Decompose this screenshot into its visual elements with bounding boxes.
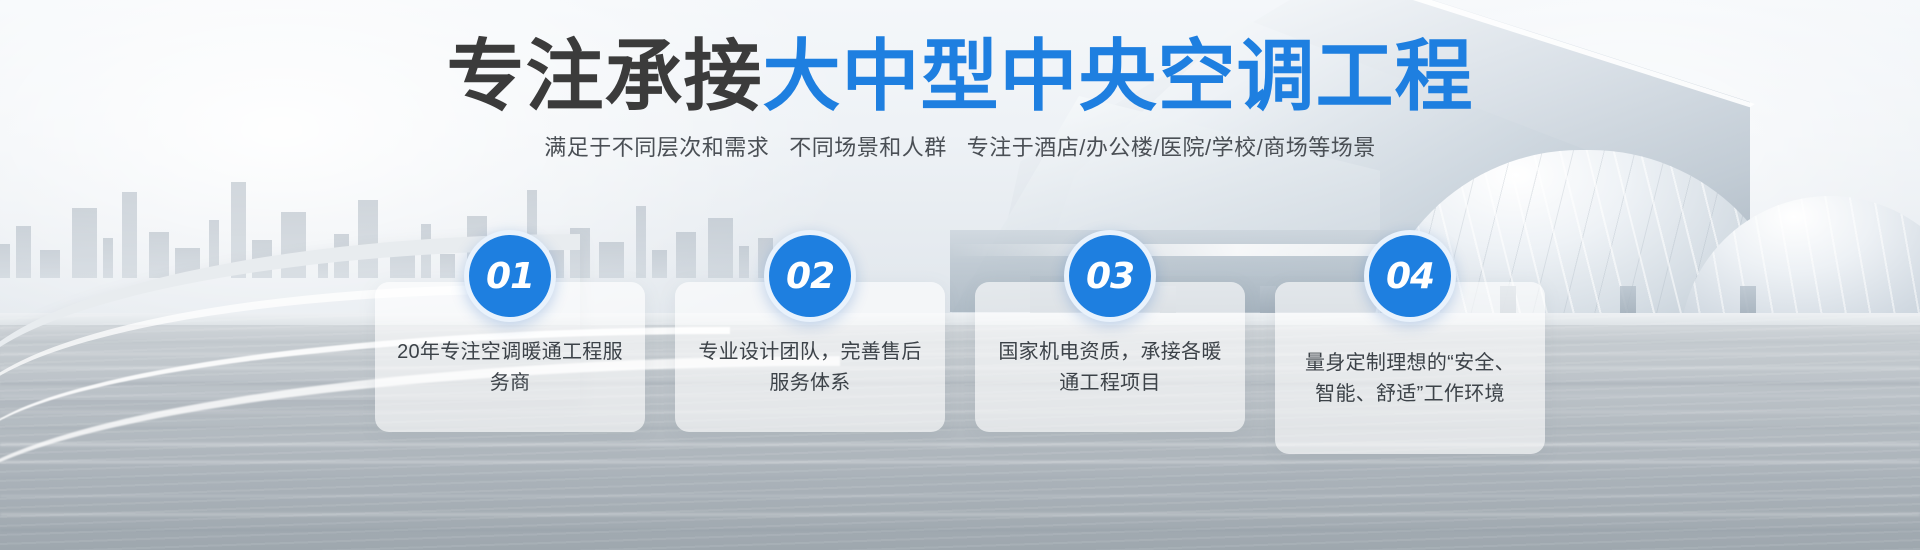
card-text-3: 国家机电资质，承接各暖通工程项目 — [995, 337, 1225, 399]
subtitle-part-3: 专注于酒店/办公楼/医院/学校/商场等场景 — [967, 135, 1376, 160]
feature-card-3[interactable]: 03 国家机电资质，承接各暖通工程项目 — [975, 282, 1245, 432]
hero-banner: 专注承接大中型中央空调工程 满足于不同层次和需求不同场景和人群专注于酒店/办公楼… — [0, 0, 1920, 550]
card-number-badge-3: 03 — [1064, 230, 1156, 322]
feature-card-2[interactable]: 02 专业设计团队，完善售后服务体系 — [675, 282, 945, 432]
feature-card-4[interactable]: 04 量身定制理想的“安全、智能、舒适”工作环境 — [1275, 282, 1545, 454]
subtitle-part-2: 不同场景和人群 — [789, 135, 947, 160]
banner-content: 专注承接大中型中央空调工程 满足于不同层次和需求不同场景和人群专注于酒店/办公楼… — [0, 0, 1920, 550]
card-text-2: 专业设计团队，完善售后服务体系 — [695, 337, 925, 399]
subtitle-part-1: 满足于不同层次和需求 — [544, 135, 769, 160]
card-text-1: 20年专注空调暖通工程服务商 — [395, 337, 625, 399]
card-number-badge-2: 02 — [764, 230, 856, 322]
banner-subtitle: 满足于不同层次和需求不同场景和人群专注于酒店/办公楼/医院/学校/商场等场景 — [0, 130, 1920, 162]
card-text-4: 量身定制理想的“安全、智能、舒适”工作环境 — [1295, 348, 1525, 410]
card-number-badge-1: 01 — [464, 230, 556, 322]
feature-card-1[interactable]: 01 20年专注空调暖通工程服务商 — [375, 282, 645, 432]
feature-card-list: 01 20年专注空调暖通工程服务商 02 专业设计团队，完善售后服务体系 03 … — [0, 282, 1920, 454]
headline-highlight: 大中型中央空调工程 — [763, 32, 1474, 122]
headline-prefix: 专注承接 — [446, 32, 762, 122]
banner-headline: 专注承接大中型中央空调工程 — [0, 38, 1920, 116]
card-number-badge-4: 04 — [1364, 230, 1456, 322]
